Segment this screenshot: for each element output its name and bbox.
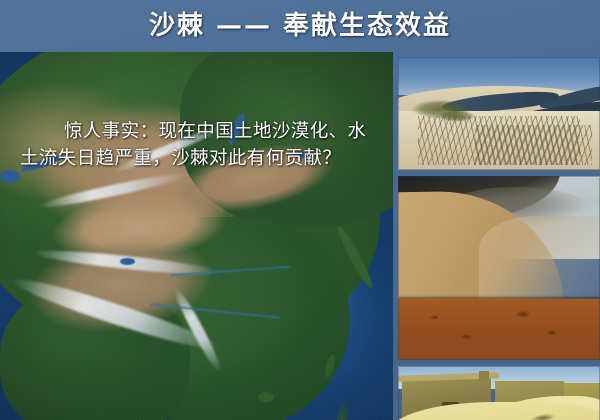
map-lake-qinghai bbox=[120, 258, 135, 265]
photo-sand-dunes bbox=[398, 57, 600, 170]
photo-column bbox=[398, 52, 600, 420]
buried-scattered-stones bbox=[398, 408, 600, 420]
buried-chimney bbox=[479, 371, 489, 382]
map-lake-aral bbox=[0, 170, 20, 183]
map-island-hainan bbox=[258, 392, 274, 402]
storm-dust-haze bbox=[479, 216, 600, 301]
body-paragraph: 惊人事实：现在中国土地沙漠化、水土流失日趋严重，沙棘对此有何贡献？ bbox=[20, 118, 380, 172]
dry-twigs-right bbox=[475, 125, 592, 166]
slide-title-bar: 沙棘 —— 奉献生态效益 bbox=[0, 0, 600, 52]
slide-canvas: 沙棘 —— 奉献生态效益 bbox=[0, 0, 600, 420]
satellite-map-panel: 惊人事实：现在中国土地沙漠化、水土流失日趋严重，沙棘对此有何贡献？ 卫星拍照中国… bbox=[0, 52, 393, 420]
photo-buried-village bbox=[398, 366, 600, 420]
storm-ground-debris bbox=[398, 299, 600, 360]
photo-dust-storm bbox=[398, 176, 600, 360]
page-title: 沙棘 —— 奉献生态效益 bbox=[149, 13, 451, 39]
satellite-map-image bbox=[0, 52, 393, 420]
